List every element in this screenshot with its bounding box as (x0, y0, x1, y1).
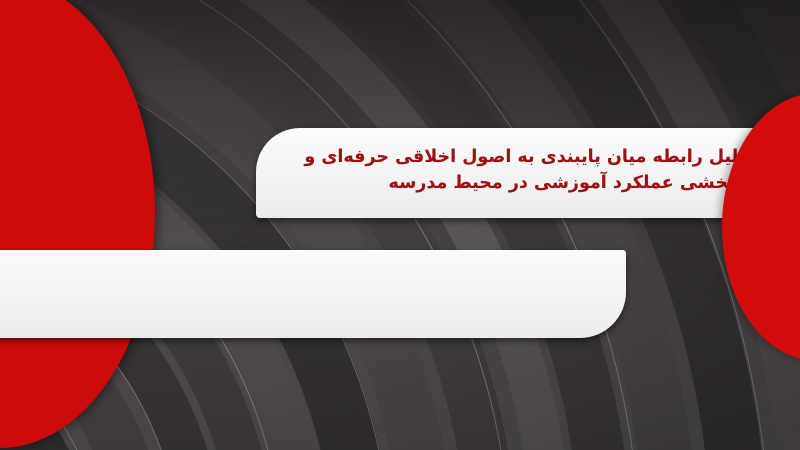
subtitle-panel (0, 250, 626, 338)
title-slide: تحلیل رابطه میان پایبندی به اصول اخلاقی … (0, 0, 800, 450)
title-panel: تحلیل رابطه میان پایبندی به اصول اخلاقی … (256, 128, 800, 218)
subtitle-text (0, 250, 626, 262)
page-title: تحلیل رابطه میان پایبندی به اصول اخلاقی … (290, 145, 758, 197)
